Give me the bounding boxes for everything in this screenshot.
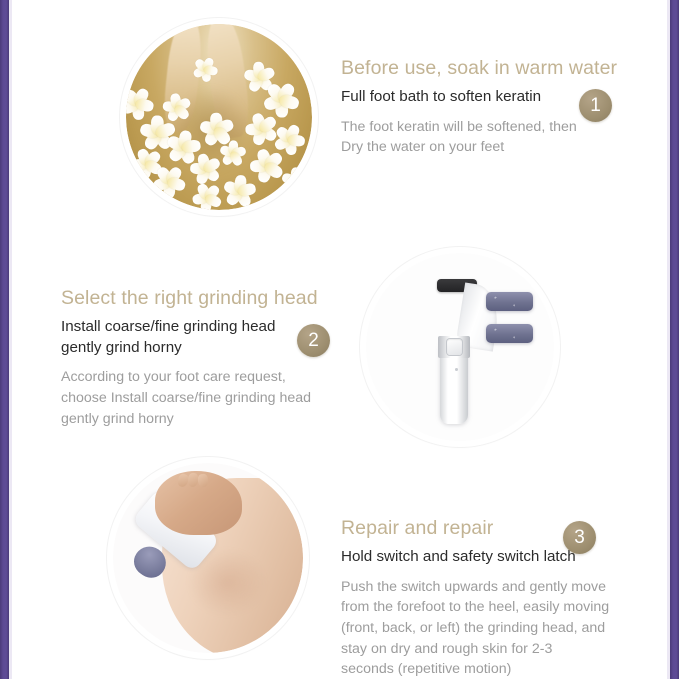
step-1-body-line: The foot keratin will be softened, then	[341, 117, 613, 138]
coarse-grinding-roller	[486, 292, 533, 311]
step-2-subtitle: Install coarse/fine grinding head gently…	[61, 317, 326, 358]
finger	[198, 473, 208, 487]
step-2-body: According to your foot care request, cho…	[61, 367, 326, 429]
step-2-body-line: According to your foot care request,	[61, 367, 326, 388]
step-2-body-line: gently grind horny	[61, 409, 326, 430]
hand-holding-device	[155, 471, 242, 536]
right-purple-border	[670, 0, 679, 679]
photo-clip	[366, 253, 554, 441]
step-2-text-block: Select the right grinding head Install c…	[61, 286, 326, 429]
step-1-subtitle: Full foot bath to soften keratin	[341, 87, 613, 108]
step-3-body: Push the switch upwards and gently move …	[341, 577, 631, 680]
step-1-number-badge: 1	[579, 89, 612, 122]
photo-clip	[126, 24, 312, 210]
photo-clip	[113, 463, 303, 653]
infographic-canvas: Before use, soak in warm water Full foot…	[0, 0, 679, 679]
step-3-body-line: seconds (repetitive motion)	[341, 659, 631, 680]
step-3-number-badge: 3	[563, 521, 596, 554]
step-3-body-line: Push the switch upwards and gently move	[341, 577, 631, 598]
step-3-body-line: from the forefoot to the heel, easily mo…	[341, 597, 631, 618]
left-border-highlight	[9, 0, 12, 679]
step-2-photo-device	[366, 253, 554, 441]
step-2-number-badge: 2	[297, 324, 330, 357]
fine-grinding-roller	[486, 324, 533, 343]
step-2-subtitle-line: gently grind horny	[61, 338, 326, 359]
step-1-heading: Before use, soak in warm water	[341, 56, 613, 80]
step-2-heading: Select the right grinding head	[61, 286, 326, 310]
step-1-body: The foot keratin will be softened, then …	[341, 117, 613, 158]
step-1-text-block: Before use, soak in warm water Full foot…	[341, 56, 613, 158]
step-1-body-line: Dry the water on your feet	[341, 137, 613, 158]
step-1-photo-feet-soaking	[126, 24, 312, 210]
step-2-subtitle-line: Install coarse/fine grinding head	[61, 317, 326, 338]
step-3-body-line: stay on dry and rough skin for 2-3	[341, 639, 631, 660]
device-power-button	[447, 339, 462, 355]
step-3-photo-heel-treatment	[113, 463, 303, 653]
step-3-body-line: (front, back, or left) the grinding head…	[341, 618, 631, 639]
frangipani-flower	[189, 53, 221, 85]
step-2-body-line: choose Install coarse/fine grinding head	[61, 388, 326, 409]
left-purple-border	[0, 0, 9, 679]
